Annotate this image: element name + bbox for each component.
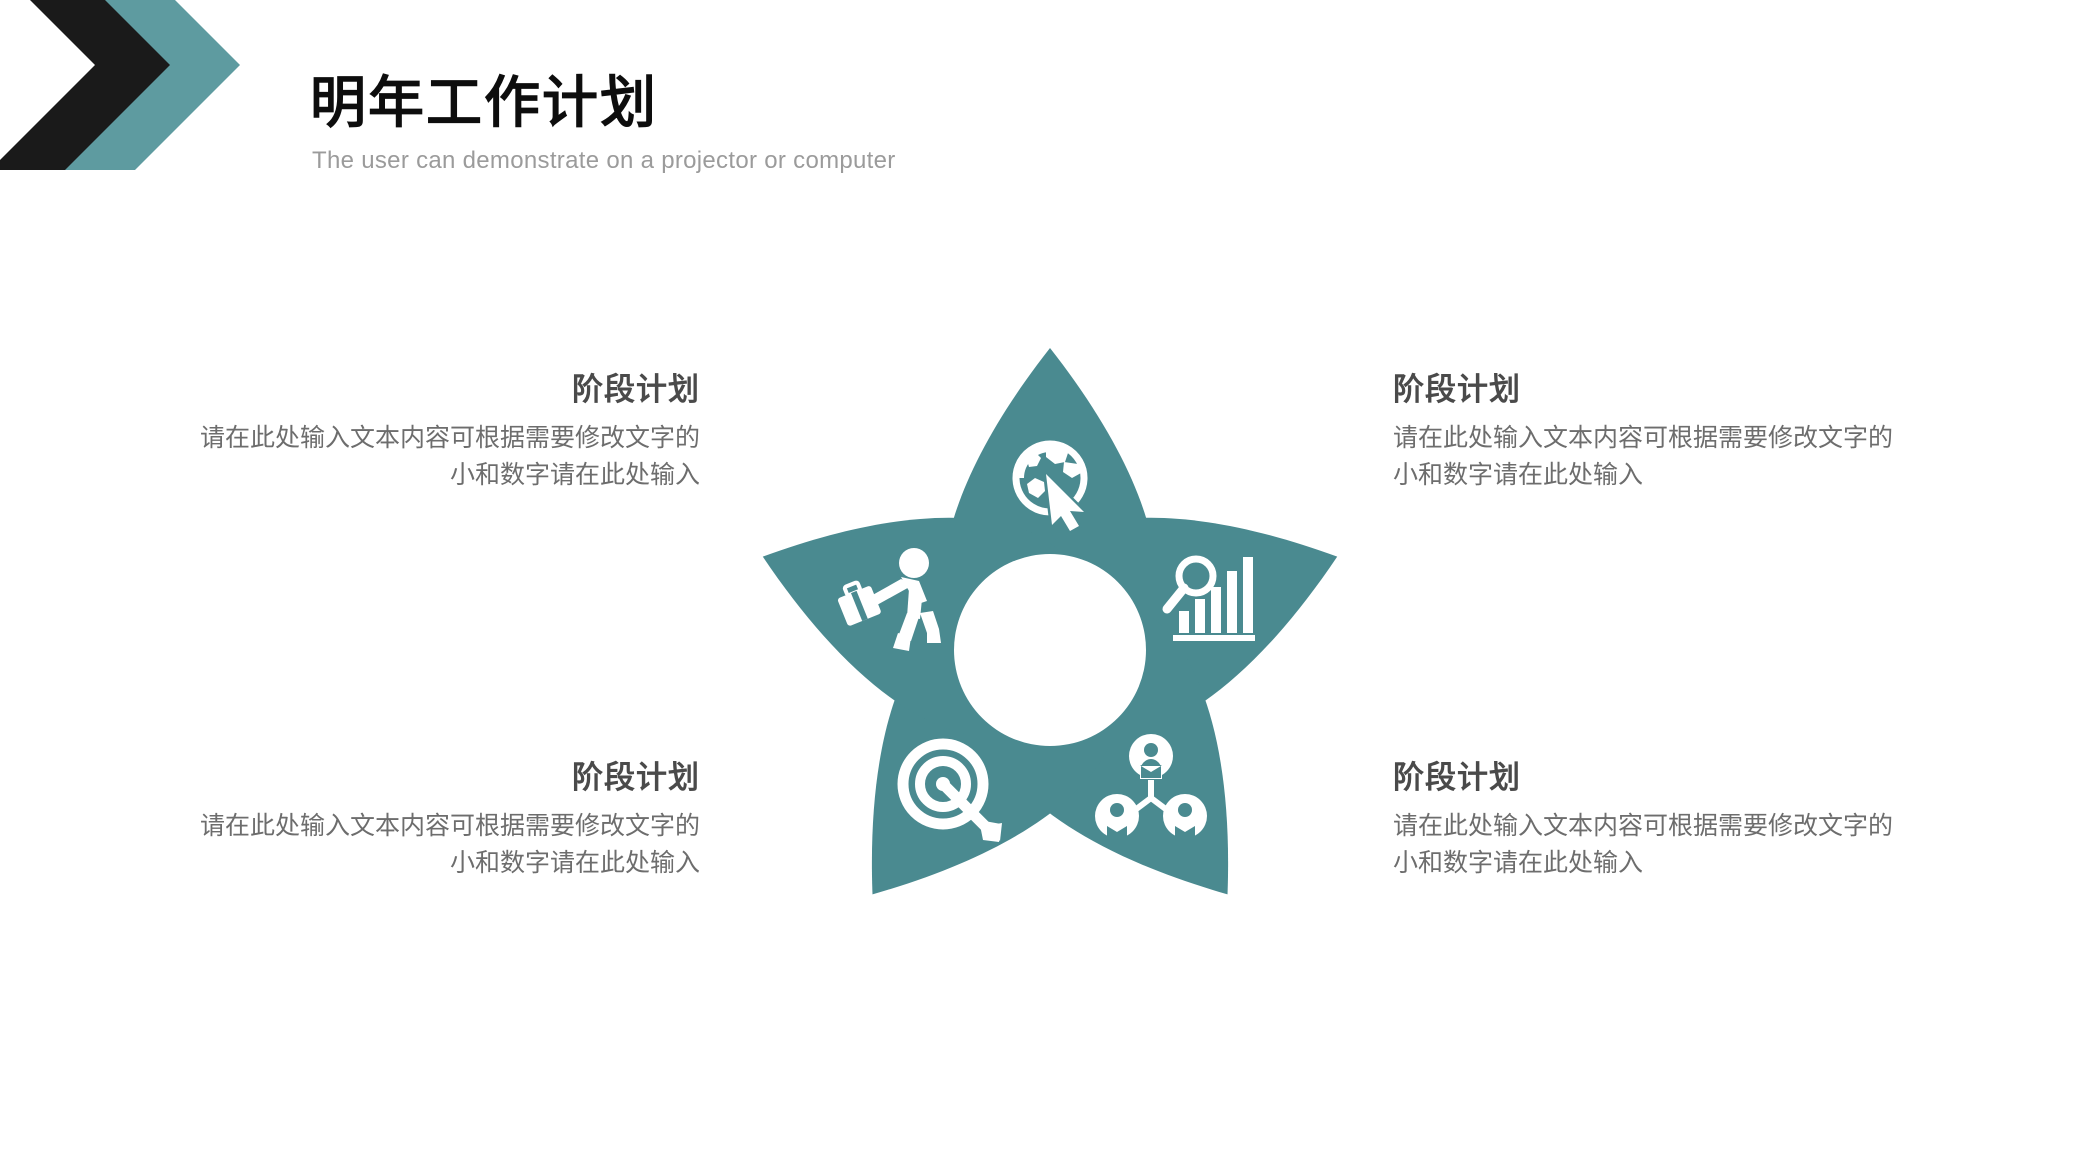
flower-center-hub <box>954 554 1146 746</box>
callout-body: 请在此处输入文本内容可根据需要修改文字的小和数字请在此处输入 <box>180 420 700 494</box>
callout-bottom-right: 阶段计划 请在此处输入文本内容可根据需要修改文字的小和数字请在此处输入 <box>1393 760 1913 882</box>
callout-bottom-left: 阶段计划 请在此处输入文本内容可根据需要修改文字的小和数字请在此处输入 <box>180 760 700 882</box>
page-title: 明年工作计划 <box>310 72 896 135</box>
slide-canvas: 明年工作计划 The user can demonstrate on a pro… <box>0 0 2088 1174</box>
callout-top-right: 阶段计划 请在此处输入文本内容可根据需要修改文字的小和数字请在此处输入 <box>1393 372 1913 494</box>
callout-title: 阶段计划 <box>1393 372 1913 408</box>
callout-title: 阶段计划 <box>180 372 700 408</box>
callout-body: 请在此处输入文本内容可根据需要修改文字的小和数字请在此处输入 <box>1393 420 1913 494</box>
page-subtitle: The user can demonstrate on a projector … <box>312 145 896 176</box>
callout-title: 阶段计划 <box>180 760 700 796</box>
callout-body: 请在此处输入文本内容可根据需要修改文字的小和数字请在此处输入 <box>1393 808 1913 882</box>
callout-top-left: 阶段计划 请在此处输入文本内容可根据需要修改文字的小和数字请在此处输入 <box>180 372 700 494</box>
callout-body: 请在此处输入文本内容可根据需要修改文字的小和数字请在此处输入 <box>180 808 700 882</box>
header: 明年工作计划 The user can demonstrate on a pro… <box>310 72 896 176</box>
double-chevron-logo <box>0 0 260 190</box>
callout-title: 阶段计划 <box>1393 760 1913 796</box>
five-petal-flower-diagram <box>700 300 1400 1000</box>
